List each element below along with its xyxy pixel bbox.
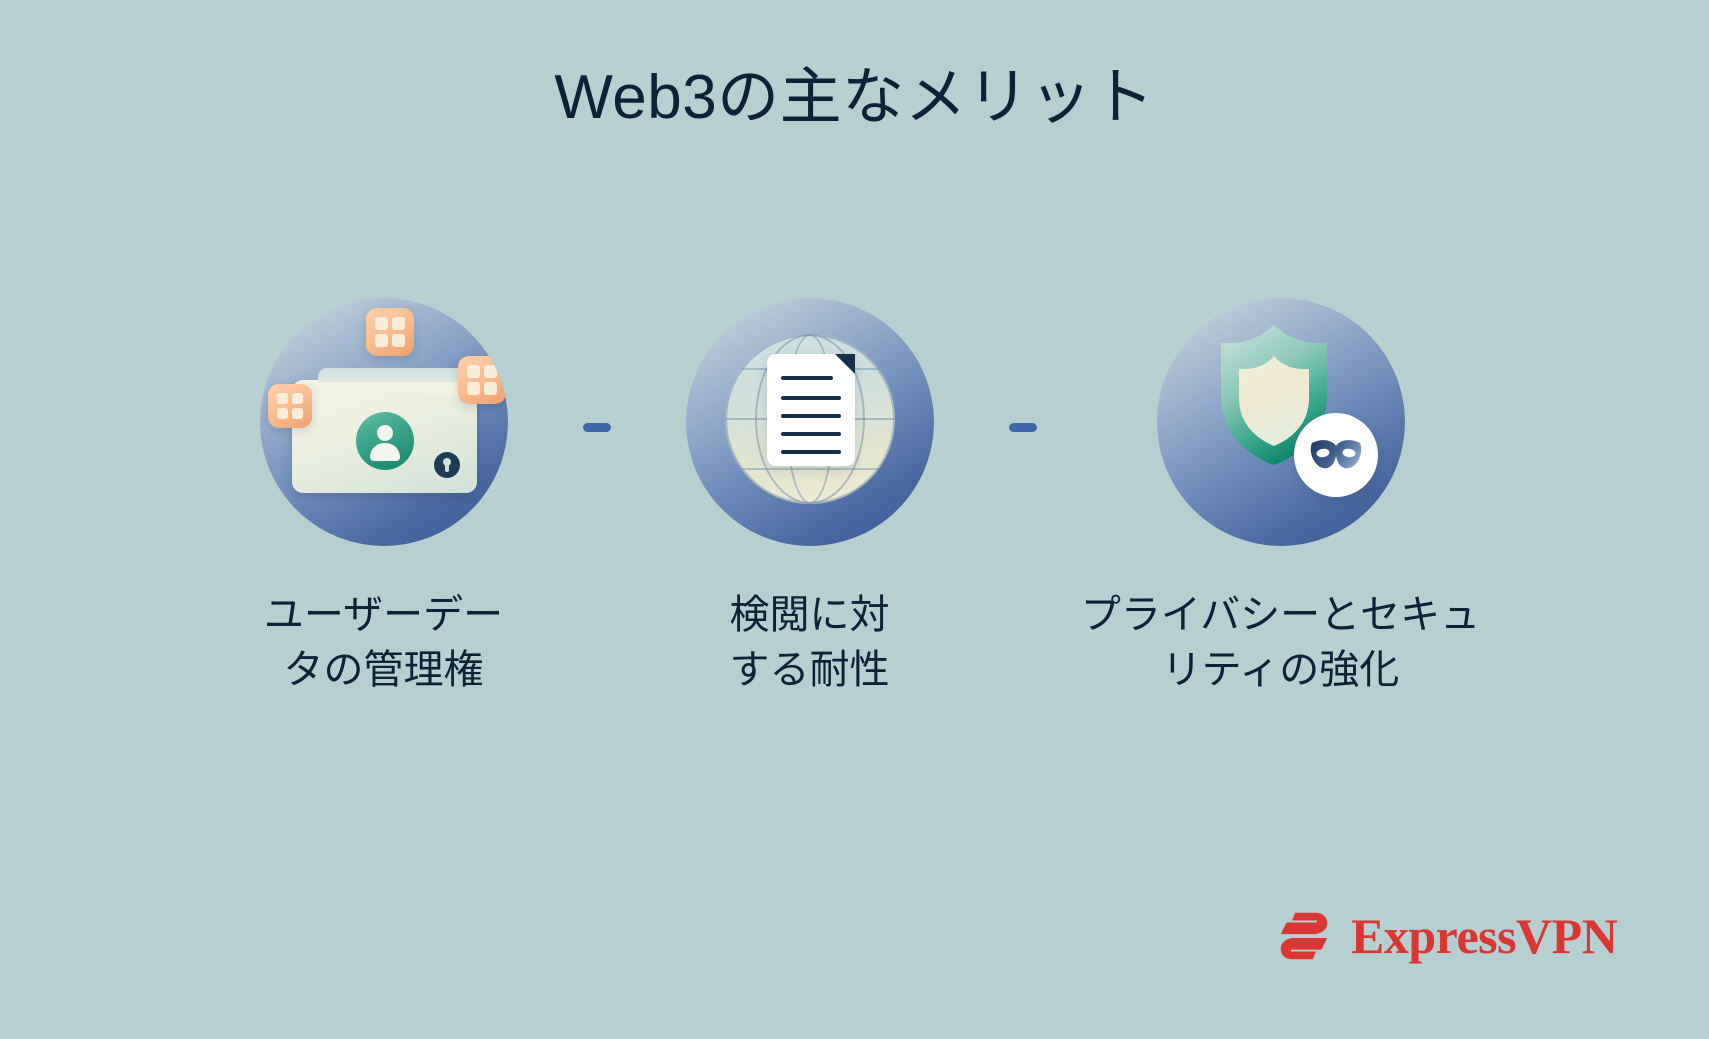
benefit-item-privacy: プライバシーとセキュ リティの強化 [1071, 298, 1491, 698]
dash-icon [583, 423, 611, 432]
grid-chip-top-icon [366, 308, 414, 356]
benefit-item-user-data: ユーザーデー タの管理権 [219, 298, 549, 698]
card-top-strip [294, 382, 475, 396]
benefit-label-line-2: する耐性 [730, 643, 890, 698]
infographic-canvas: Web3の主なメリット [0, 0, 1709, 1039]
document-fold-corner [835, 354, 855, 374]
user-data-card-icon [260, 298, 508, 546]
document-text-line [781, 450, 841, 454]
data-card-shape [292, 380, 477, 493]
expressvpn-logo: ExpressVPN [1273, 905, 1617, 967]
benefit-label-line-2: リティの強化 [1081, 643, 1480, 698]
document-text-line [781, 376, 833, 380]
benefit-label-censorship: 検閲に対 する耐性 [730, 588, 890, 698]
document-text-line [781, 414, 841, 418]
separator-2 [975, 298, 1071, 432]
benefit-label-line-1: ユーザーデー [264, 588, 503, 643]
masquerade-mask-icon [1308, 438, 1364, 472]
separator-1 [549, 298, 645, 432]
grid-chip-left-icon [268, 384, 312, 428]
benefit-label-line-1: プライバシーとセキュ [1081, 588, 1480, 643]
grid-chip-right-icon [458, 356, 506, 404]
globe-document-icon [686, 298, 934, 546]
avatar-head [377, 425, 393, 441]
benefit-label-user-data: ユーザーデー タの管理権 [264, 588, 503, 698]
lock-keyhole-icon [434, 452, 460, 478]
document-icon [767, 354, 855, 466]
privacy-mask-badge [1294, 413, 1378, 497]
benefits-row: ユーザーデー タの管理権 [0, 298, 1709, 698]
benefit-label-privacy: プライバシーとセキュ リティの強化 [1081, 588, 1480, 698]
document-text-line [781, 432, 841, 436]
expressvpn-e-mark-icon [1273, 905, 1335, 967]
benefit-label-line-1: 検閲に対 [730, 588, 890, 643]
page-title: Web3の主なメリット [0, 62, 1709, 133]
shield-mask-icon [1157, 298, 1405, 546]
globe-parallel [734, 468, 886, 470]
dash-icon [1009, 423, 1037, 432]
benefit-label-line-2: タの管理権 [264, 643, 503, 698]
avatar-body [370, 443, 400, 461]
document-text-line [781, 396, 841, 400]
benefit-item-censorship: 検閲に対 する耐性 [645, 298, 975, 698]
expressvpn-wordmark: ExpressVPN [1351, 911, 1617, 961]
user-avatar-icon [356, 412, 414, 470]
